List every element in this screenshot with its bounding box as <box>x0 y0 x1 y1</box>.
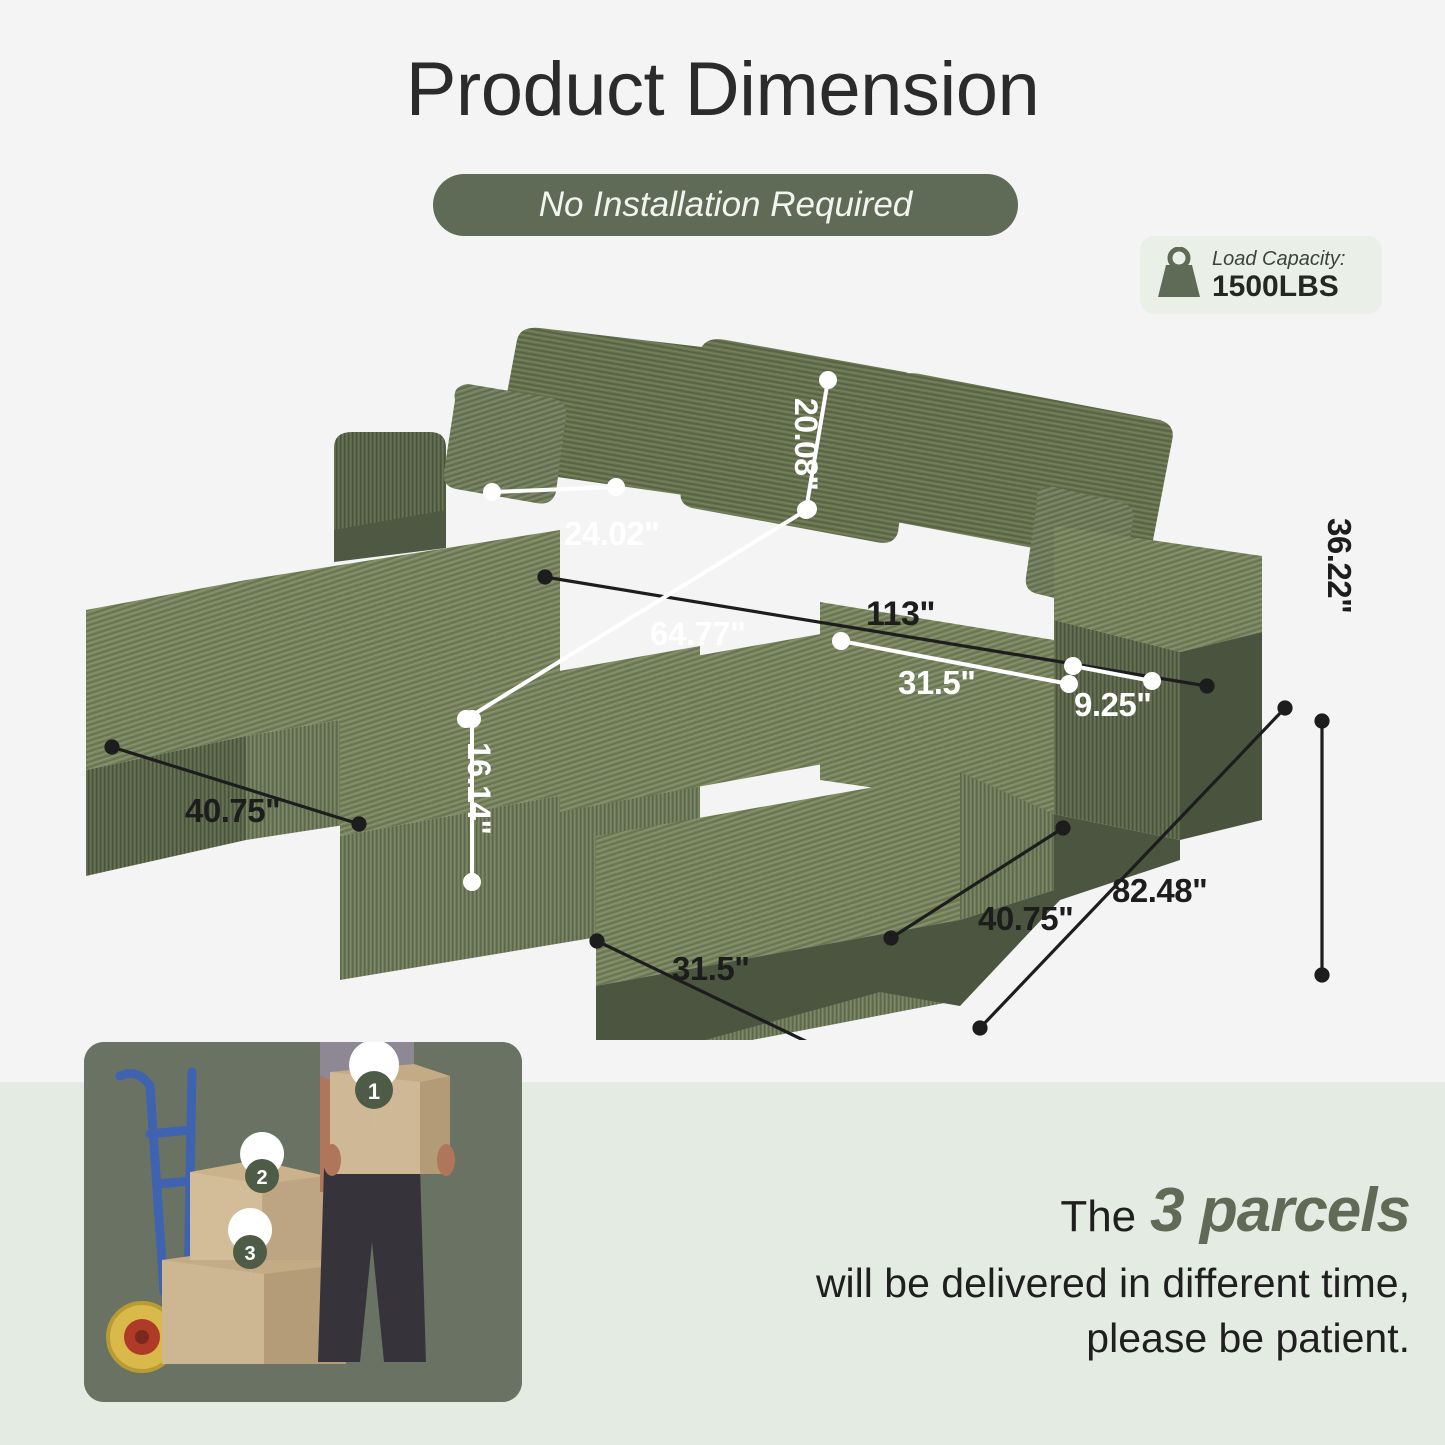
delivery-message: The3 parcels will be delivered in differ… <box>620 1175 1410 1362</box>
dim-module-depth: 40.75" <box>978 900 1073 938</box>
sofa-svg <box>0 280 1445 1040</box>
page-title: Product Dimension <box>0 46 1445 133</box>
svg-text:3: 3 <box>244 1243 255 1265</box>
dim-overall-height: 36.22" <box>1320 518 1358 613</box>
seat-module-right-top <box>820 602 1054 814</box>
armrest-right-front <box>1054 620 1180 840</box>
no-installation-badge-label: No Installation Required <box>539 185 913 225</box>
delivery-prefix: The <box>1060 1192 1136 1241</box>
dim-seat-width-right: 31.5" <box>898 664 975 702</box>
dim-seat-depth: 24.02" <box>564 515 659 553</box>
dim-seat-height: 16.14" <box>460 742 497 834</box>
delivery-line-1: The3 parcels <box>620 1175 1410 1246</box>
dim-overall-width: 113" <box>866 595 935 634</box>
no-installation-badge: No Installation Required <box>433 174 1018 236</box>
delivery-line-3: please be patient. <box>620 1315 1410 1362</box>
dim-arm-width: 9.25" <box>1074 686 1151 724</box>
dim-overall-depth: 82.48" <box>1112 872 1207 910</box>
parcel-count-accent: 3 parcels <box>1150 1176 1410 1245</box>
parcel-photo: 1 2 3 <box>84 1042 522 1402</box>
sofa-illustration: 113" 24.02" 20.08" 64.77" 36.22" 31.5" 9… <box>0 280 1445 1040</box>
dim-module-width-left: 40.75" <box>185 792 280 830</box>
svg-text:1: 1 <box>368 1079 380 1104</box>
accent-pillow-left <box>444 384 566 504</box>
load-capacity-label: Load Capacity: <box>1212 249 1345 269</box>
svg-text:2: 2 <box>256 1167 267 1189</box>
armrest-right-side <box>1180 632 1262 840</box>
dim-seat-width-front: 31.5" <box>672 950 749 988</box>
delivery-line-2: will be delivered in different time, <box>620 1260 1410 1307</box>
dim-back-height: 20.08" <box>787 398 824 490</box>
dim-bed-length: 64.77" <box>650 615 745 653</box>
